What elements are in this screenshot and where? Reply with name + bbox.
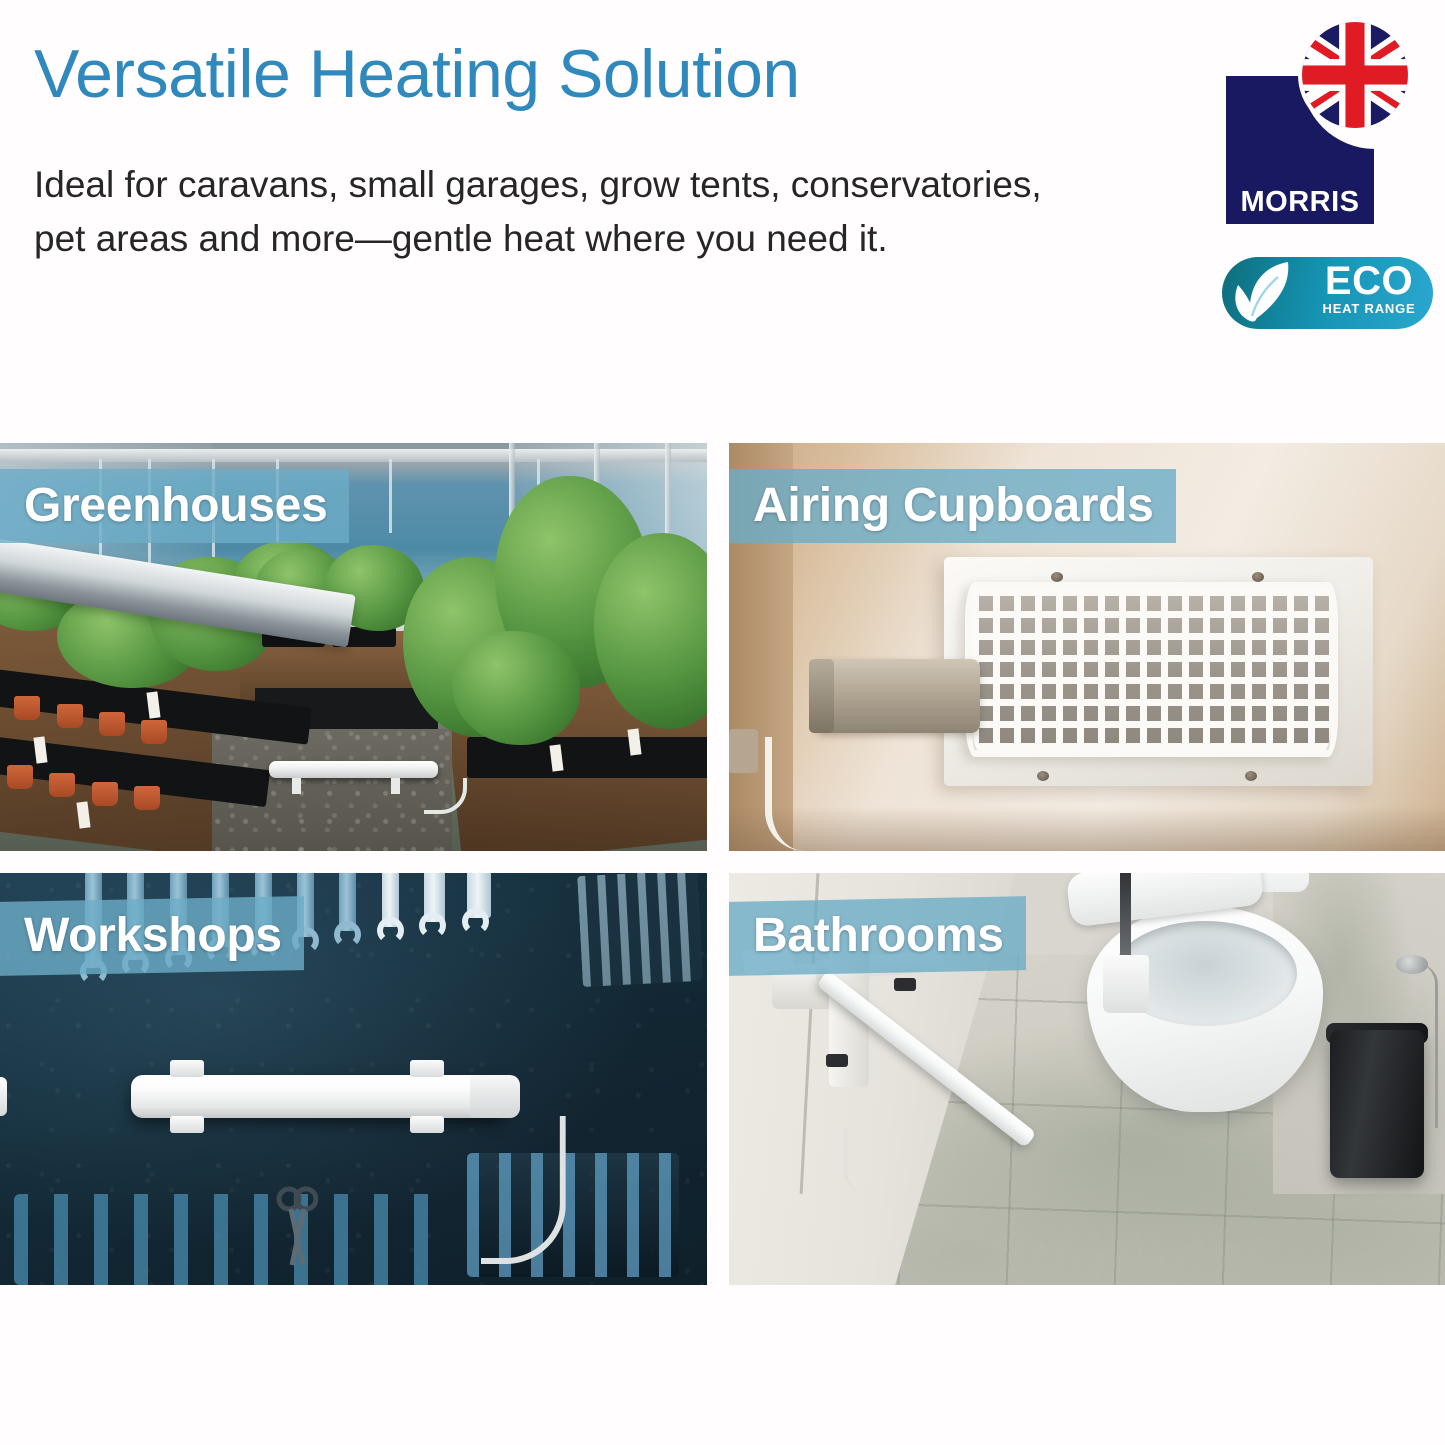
eco-badge-subtitle: HEAT RANGE [1310, 302, 1428, 316]
caption-label: Bathrooms [753, 912, 1004, 960]
gallery-cell-workshops: Workshops [0, 862, 718, 1285]
heater-bracket [826, 1054, 848, 1067]
heater-end-module [815, 659, 980, 732]
hand-tools-row [14, 1194, 452, 1285]
greenhouse-plant-pot [49, 773, 75, 797]
eco-badge-text: ECO HEAT RANGE [1310, 262, 1428, 317]
heater-bracket [410, 1116, 444, 1133]
heater-bracket [170, 1116, 204, 1133]
greenhouse-plant-pot [99, 712, 125, 736]
caption-band-bathrooms: Bathrooms [729, 896, 1026, 976]
heater-power-cable [844, 1128, 894, 1194]
tubular-heater-workshop [131, 1075, 506, 1118]
guard-grille-mesh [972, 589, 1330, 750]
photo-greenhouse: Greenhouses [0, 443, 707, 851]
eco-badge-title: ECO [1310, 262, 1428, 300]
mounting-screw [1051, 572, 1063, 582]
wrench-icon [382, 873, 399, 927]
shower-hose [1416, 964, 1437, 1129]
caption-band-airing-cupboards: Airing Cupboards [729, 469, 1176, 543]
wall-socket [729, 729, 758, 774]
caption-label: Airing Cupboards [753, 482, 1154, 530]
greenhouse-plant-pot [134, 786, 160, 810]
heater-power-cable [765, 737, 851, 851]
greenhouse-plant-pot [14, 696, 40, 720]
greenhouse-hanging-wire [389, 459, 392, 532]
heater-bracket [170, 1060, 204, 1077]
greenhouse-plant-pot [7, 765, 33, 789]
waste-bin [1330, 1030, 1423, 1178]
eco-leaf-icon [1230, 259, 1310, 327]
tubular-heater-greenhouse [269, 761, 439, 778]
morris-wordmark: MORRIS [1226, 188, 1374, 217]
mounting-screw [1252, 572, 1264, 582]
photo-workshop: Workshops [0, 873, 707, 1285]
photo-bathroom: Bathrooms [729, 873, 1445, 1285]
heater-bracket [391, 778, 400, 794]
use-case-gallery: Greenhouses [0, 443, 1445, 1285]
heater-bracket [894, 978, 916, 991]
heater-end-cap [0, 1077, 7, 1116]
heater-bracket [410, 1060, 444, 1077]
toilet-brush-holder [1103, 955, 1150, 1013]
wrench-icon [339, 873, 356, 931]
scissors-icon [276, 1185, 318, 1269]
greenhouse-plant-pot [92, 782, 118, 806]
gallery-cell-greenhouses: Greenhouses [0, 443, 718, 862]
socket-set-rack [577, 873, 703, 987]
infographic-page: Versatile Heating Solution Ideal for car… [0, 0, 1445, 1445]
caption-band-greenhouses: Greenhouses [0, 469, 349, 543]
page-title: Versatile Heating Solution [34, 36, 1044, 112]
greenhouse-roof-rail [0, 449, 707, 462]
eco-heat-range-badge: ECO HEAT RANGE [1222, 257, 1433, 329]
caption-label: Workshops [24, 912, 282, 960]
brand-logo-block: MORRIS [1218, 10, 1433, 330]
greenhouse-plant-pot [141, 720, 167, 744]
heater-bracket [292, 778, 301, 794]
gallery-cell-airing-cupboards: Airing Cupboards [718, 443, 1445, 862]
heater-end-cap [809, 659, 834, 732]
wrench-icon [424, 873, 445, 922]
header-section: Versatile Heating Solution Ideal for car… [0, 0, 1445, 430]
page-subtitle: Ideal for caravans, small garages, grow … [34, 158, 1094, 265]
caption-label: Greenhouses [24, 482, 327, 530]
wrench-icon [467, 873, 491, 918]
greenhouse-foliage [452, 631, 579, 745]
uk-flag-icon [1298, 18, 1412, 132]
caption-band-workshops: Workshops [0, 896, 304, 976]
heater-control-module [470, 1075, 519, 1118]
greenhouse-plant-pot [57, 704, 83, 728]
toilet-brush-handle [1120, 873, 1131, 964]
heater-mesh-guard [965, 582, 1337, 757]
photo-airing-cupboard: Airing Cupboards [729, 443, 1445, 851]
gallery-cell-bathrooms: Bathrooms [718, 862, 1445, 1285]
